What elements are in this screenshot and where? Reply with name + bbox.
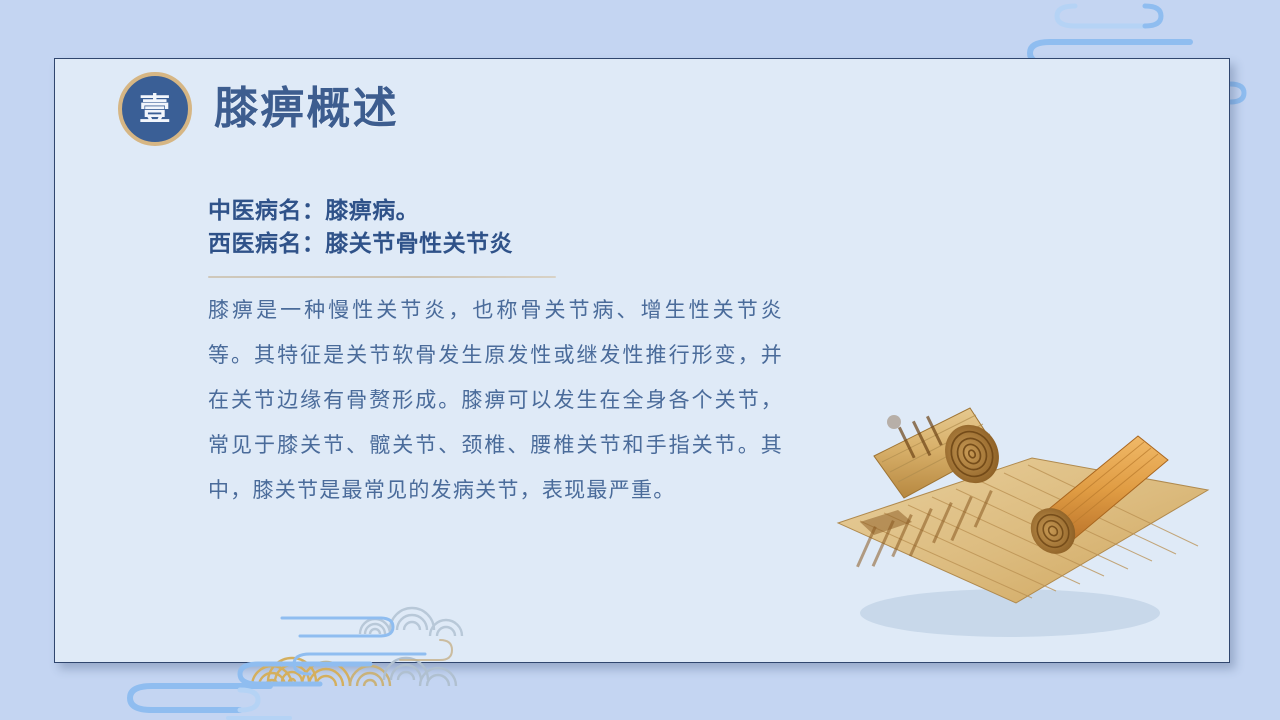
slide-heading: 壹 膝痹概述: [118, 72, 399, 146]
description-paragraph: 膝痹是一种慢性关节炎，也称骨关节病、增生性关节炎等。其特征是关节软骨发生原发性或…: [208, 288, 783, 513]
section-divider: [208, 276, 556, 278]
slide-canvas: 壹 膝痹概述 中医病名：膝痹病。 西医病名：膝关节骨性关节炎 膝痹是一种慢性关节…: [0, 0, 1280, 720]
subtitle-western-name: 西医病名：膝关节骨性关节炎: [208, 228, 783, 261]
subtitle-tcm-name: 中医病名：膝痹病。: [208, 195, 783, 228]
content-body: 中医病名：膝痹病。 西医病名：膝关节骨性关节炎 膝痹是一种慢性关节炎，也称骨关节…: [208, 195, 783, 513]
page-title: 膝痹概述: [214, 87, 399, 131]
section-number-label: 壹: [139, 94, 171, 125]
section-number-badge: 壹: [118, 72, 192, 146]
